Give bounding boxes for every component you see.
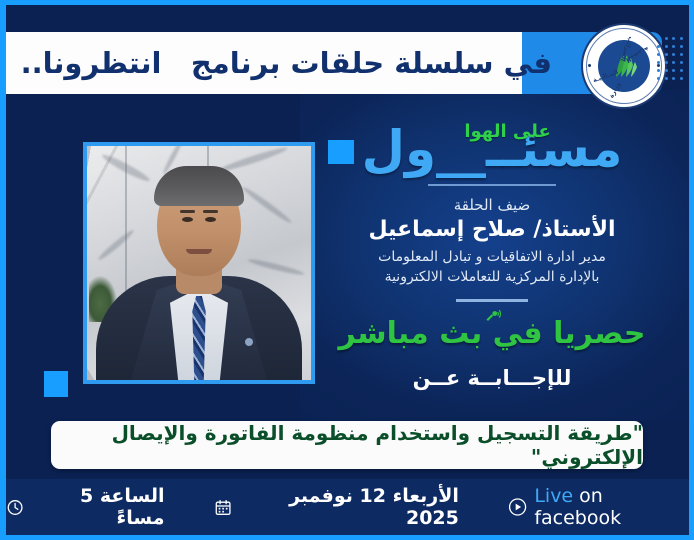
topic-banner: "طريقة التسجيل واستخدام منظومة الفاتورة … [51, 421, 643, 469]
header-wait-us-text: انتظرونا.. [6, 32, 162, 94]
live-broadcast-row: حصريا في بث مباشر [316, 316, 668, 360]
program-info-column: مسئــ__ول على الهوا ضيف الحلقة الأستاذ/ … [316, 118, 668, 390]
poster-canvas: انتظرونا.. في سلسلة حلقات برنامج [0, 0, 694, 540]
guest-role-line-1: مدير ادارة الاتفاقيات و تبادل المعلومات [316, 247, 668, 267]
date-group: الأربعاء 12 نوفمبر 2025 [214, 485, 459, 529]
guest-divider [456, 299, 528, 302]
answering-label: للإجـــابــة عــن [316, 366, 668, 390]
satellite-broadcast-icon [484, 306, 504, 324]
time-group: الساعة 5 مساءً [6, 485, 164, 529]
clock-icon [6, 498, 24, 517]
frame-edge-top [0, 0, 694, 5]
guest-label: ضيف الحلقة [316, 196, 668, 214]
header-series-text: في سلسلة حلقات برنامج [162, 32, 570, 94]
footer-bar: Live on facebook الأربعاء 12 نوفمبر 2025 [6, 479, 689, 535]
on-air-label: على الهوا [464, 121, 550, 142]
program-title-row: مسئــ__ول على الهوا [316, 118, 668, 180]
calendar-icon [214, 498, 232, 517]
guest-photo [83, 142, 315, 384]
live-word: Live [534, 485, 573, 507]
broadcast-date: الأربعاء 12 نوفمبر 2025 [239, 485, 459, 529]
title-divider [428, 184, 556, 186]
guest-name: الأستاذ/ صلاح إسماعيل [316, 217, 668, 242]
frame-edge-bottom [0, 535, 694, 540]
play-circle-icon[interactable] [508, 497, 527, 517]
accent-square-bottom [44, 371, 68, 397]
facebook-live-text: Live on facebook [534, 485, 689, 529]
dot-grid-decoration [655, 34, 685, 82]
header-bar: انتظرونا.. في سلسلة حلقات برنامج [6, 32, 678, 94]
guest-role-line-2: بالإدارة المركزية للتعاملات الالكترونية [316, 267, 668, 287]
frame-edge-right [689, 0, 694, 540]
broadcast-time: الساعة 5 مساءً [31, 485, 164, 529]
facebook-live-group[interactable]: Live on facebook [508, 485, 689, 529]
